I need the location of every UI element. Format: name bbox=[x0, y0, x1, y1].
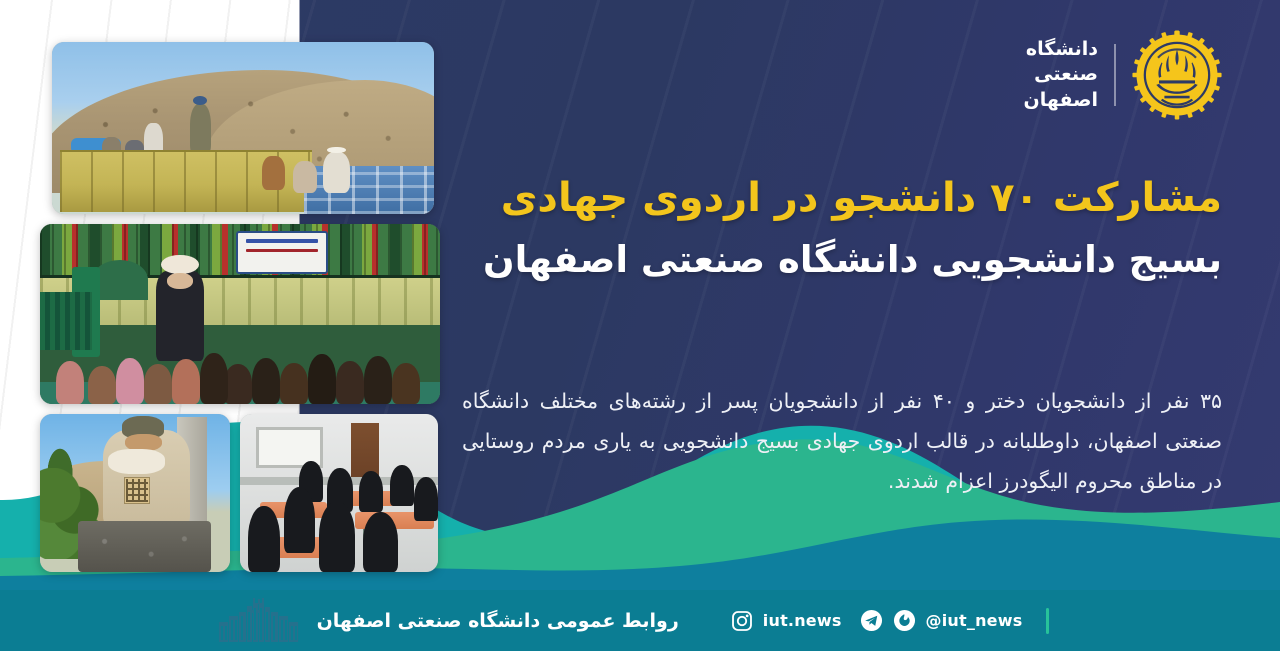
telegram-icon[interactable] bbox=[860, 609, 883, 632]
collage-photo-classroom bbox=[240, 414, 438, 572]
body-paragraph: ۳۵ نفر از دانشجویان دختر و ۴۰ نفر از دان… bbox=[462, 382, 1222, 502]
headline-block: مشارکت ۷۰ دانشجو در اردوی جهادی بسیج دان… bbox=[472, 168, 1222, 288]
news-banner: دانشگاه صنعتی اصفهان مشارکت ۷۰ دانشجو در… bbox=[0, 0, 1280, 651]
public-relations-credit: روابط عمومی دانشگاه صنعتی اصفهان bbox=[317, 610, 679, 632]
instagram-handle[interactable]: iut.news bbox=[763, 611, 842, 630]
footer-credit-block: روابط عمومی دانشگاه صنعتی اصفهان bbox=[217, 598, 697, 644]
bale-messenger-icon[interactable] bbox=[893, 609, 916, 632]
subheadline: بسیج دانشجویی دانشگاه صنعتی اصفهان bbox=[472, 232, 1222, 288]
university-logo-block: دانشگاه صنعتی اصفهان bbox=[1024, 30, 1222, 120]
instagram-icon[interactable] bbox=[731, 610, 753, 632]
university-name-line-2: صنعتی bbox=[1024, 62, 1098, 88]
headline: مشارکت ۷۰ دانشجو در اردوی جهادی bbox=[472, 168, 1222, 228]
collage-photo-construction bbox=[40, 414, 230, 572]
iut-campus-building-icon bbox=[217, 598, 303, 644]
iut-gear-emblem-icon bbox=[1132, 30, 1222, 120]
logo-divider bbox=[1114, 44, 1116, 106]
footer-divider bbox=[1046, 608, 1049, 634]
photo-collage bbox=[0, 0, 470, 590]
social-links: iut.news @iut_news bbox=[731, 608, 1064, 634]
university-name: دانشگاه صنعتی اصفهان bbox=[1024, 37, 1098, 114]
footer-bar: iut.news @iut_news روابط عمومی دانشگاه ص… bbox=[0, 590, 1280, 651]
university-name-line-3: اصفهان bbox=[1024, 88, 1098, 114]
collage-photo-truck bbox=[52, 42, 434, 214]
messenger-handle[interactable]: @iut_news bbox=[926, 611, 1023, 630]
collage-photo-mosque bbox=[40, 224, 440, 404]
university-name-line-1: دانشگاه bbox=[1024, 37, 1098, 63]
